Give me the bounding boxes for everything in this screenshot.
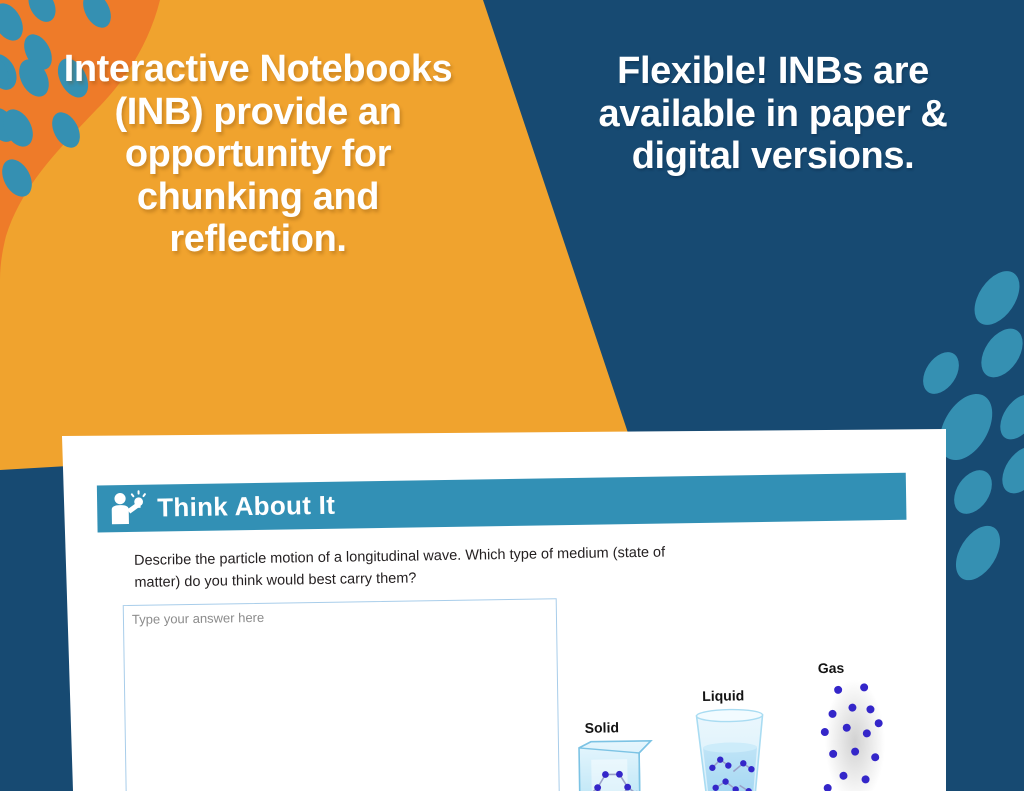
person-with-idea-icon: [107, 489, 150, 528]
state-label-liquid: Liquid: [702, 687, 744, 704]
states-of-matter-figure: Solid Liquid Gas: [566, 656, 928, 791]
state-label-solid: Solid: [585, 719, 619, 736]
slide-canvas: Interactive Notebooks (INB) provide an o…: [0, 0, 1024, 791]
answer-placeholder: Type your answer here: [124, 599, 556, 633]
ice-cube-icon: [579, 741, 652, 791]
gas-particles-icon: [812, 679, 898, 791]
state-label-gas: Gas: [818, 660, 845, 676]
states-of-matter-svg: [566, 656, 928, 791]
worksheet-content: Think About It Describe the particle mot…: [62, 418, 952, 791]
headline-left: Interactive Notebooks (INB) provide an o…: [56, 48, 460, 261]
answer-input[interactable]: Type your answer here: [123, 598, 560, 791]
headline-right: Flexible! INBs are available in paper & …: [580, 50, 966, 178]
section-title: Think About It: [157, 490, 335, 524]
section-header: Think About It: [97, 473, 907, 533]
prompt-text: Describe the particle motion of a longit…: [134, 542, 715, 595]
water-glass-icon: [696, 709, 764, 791]
